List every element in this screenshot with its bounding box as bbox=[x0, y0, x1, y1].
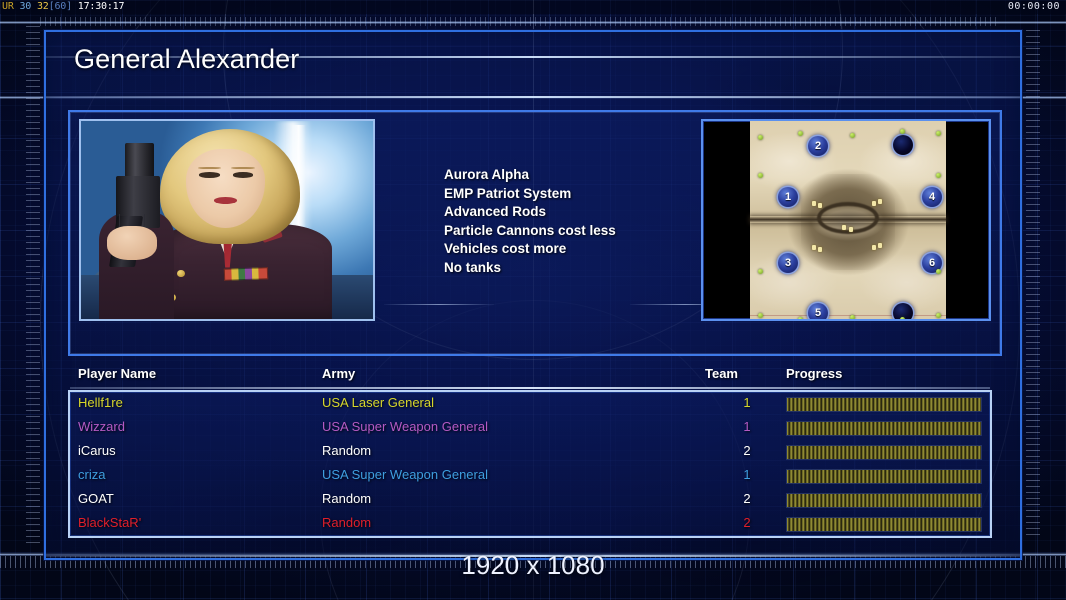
player-army: USA Super Weapon General bbox=[322, 467, 488, 482]
player-army: Random bbox=[322, 491, 371, 506]
table-row[interactable]: Hellf1reUSA Laser General1 bbox=[70, 392, 990, 416]
progress-bar bbox=[786, 421, 982, 436]
player-team: 1 bbox=[737, 419, 757, 434]
title-bar: General Alexander bbox=[46, 32, 1020, 88]
map-supply-marker bbox=[818, 203, 822, 208]
map-resource-dot bbox=[798, 317, 803, 321]
player-name: Hellf1re bbox=[78, 395, 123, 410]
progress-bar-fill bbox=[787, 422, 981, 435]
general-portrait bbox=[79, 119, 375, 321]
progress-bar-fill bbox=[787, 398, 981, 411]
map-supply-marker bbox=[812, 201, 816, 206]
map-resource-dot bbox=[900, 317, 905, 321]
progress-bar bbox=[786, 469, 982, 484]
player-army: Random bbox=[322, 443, 371, 458]
ruler-right bbox=[1026, 30, 1040, 540]
general-info-box: Aurora AlphaEMP Patriot SystemAdvanced R… bbox=[68, 110, 1002, 356]
portrait-eye-left bbox=[199, 172, 219, 177]
map-resource-dot bbox=[798, 131, 803, 136]
table-row[interactable]: GOATRandom2 bbox=[70, 488, 990, 512]
progress-bar bbox=[786, 397, 982, 412]
map-resource-dot bbox=[936, 131, 941, 136]
map-resource-dot bbox=[758, 173, 763, 178]
debug-top-bar: UR 30 32[60] 17:30:17 00:00:00 bbox=[0, 0, 1066, 14]
map-river-island bbox=[817, 202, 880, 234]
progress-bar-fill bbox=[787, 470, 981, 483]
map-preview-frame[interactable]: 214365 bbox=[701, 119, 991, 321]
progress-bar-fill bbox=[787, 494, 981, 507]
map-supply-marker bbox=[878, 243, 882, 248]
map-supply-marker bbox=[872, 201, 876, 206]
progress-bar bbox=[786, 517, 982, 532]
player-name: BlackStaR' bbox=[78, 515, 141, 530]
map-supply-marker bbox=[872, 245, 876, 250]
portrait-medal-ribbons bbox=[224, 267, 268, 280]
player-table-header: Player NameArmyTeamProgress bbox=[70, 366, 990, 388]
map-resource-dot bbox=[900, 129, 905, 134]
map-preview-image: 214365 bbox=[750, 121, 946, 321]
progress-bar bbox=[786, 493, 982, 508]
map-supply-marker bbox=[849, 227, 853, 232]
player-name: GOAT bbox=[78, 491, 114, 506]
table-row[interactable]: iCarusRandom2 bbox=[70, 440, 990, 464]
map-supply-marker bbox=[818, 247, 822, 252]
map-start-position[interactable]: 3 bbox=[778, 253, 798, 273]
header-underline bbox=[70, 387, 990, 389]
map-resource-dot bbox=[936, 173, 941, 178]
player-team: 2 bbox=[737, 515, 757, 530]
map-supply-marker bbox=[842, 225, 846, 230]
column-header-army[interactable]: Army bbox=[322, 366, 355, 381]
player-name: iCarus bbox=[78, 443, 116, 458]
map-resource-dot bbox=[758, 135, 763, 140]
page-title: General Alexander bbox=[74, 44, 299, 75]
map-resource-dot bbox=[758, 313, 763, 318]
progress-bar-fill bbox=[787, 446, 981, 459]
table-row[interactable]: BlackStaR'Random2 bbox=[70, 512, 990, 536]
ruler-left bbox=[26, 26, 40, 546]
portrait-lips bbox=[214, 197, 237, 204]
fps-counter: UR 30 32[60] 17:30:17 bbox=[2, 1, 124, 13]
info-divider-left bbox=[384, 304, 494, 305]
panel-highlight-title bbox=[46, 96, 1020, 98]
map-resource-dot bbox=[758, 269, 763, 274]
map-start-position[interactable] bbox=[893, 135, 913, 155]
player-name: Wizzard bbox=[78, 419, 125, 434]
portrait-eye-right bbox=[233, 172, 253, 177]
table-row[interactable]: crizaUSA Super Weapon General1 bbox=[70, 464, 990, 488]
map-start-position[interactable]: 1 bbox=[778, 187, 798, 207]
map-supply-marker bbox=[878, 199, 882, 204]
player-team: 2 bbox=[737, 491, 757, 506]
portrait-hand bbox=[107, 226, 157, 260]
map-resource-dot bbox=[850, 133, 855, 138]
player-army: USA Super Weapon General bbox=[322, 419, 488, 434]
player-table: Hellf1reUSA Laser General1WizzardUSA Sup… bbox=[68, 390, 992, 538]
player-name: criza bbox=[78, 467, 105, 482]
session-clock: 00:00:00 bbox=[1008, 1, 1060, 13]
loading-screen: UR 30 32[60] 17:30:17 00:00:00 General A… bbox=[0, 0, 1066, 600]
table-row[interactable]: WizzardUSA Super Weapon General1 bbox=[70, 416, 990, 440]
player-team: 2 bbox=[737, 443, 757, 458]
player-team: 1 bbox=[737, 395, 757, 410]
progress-bar-fill bbox=[787, 518, 981, 531]
main-panel: General Alexander bbox=[44, 30, 1022, 560]
map-scanline-2 bbox=[750, 320, 946, 321]
map-resource-dot bbox=[936, 313, 941, 318]
column-header-name[interactable]: Player Name bbox=[78, 366, 156, 381]
map-resource-dot bbox=[936, 269, 941, 274]
map-start-position[interactable]: 2 bbox=[808, 136, 828, 156]
map-start-position[interactable]: 4 bbox=[922, 187, 942, 207]
map-supply-marker bbox=[812, 245, 816, 250]
column-header-progress[interactable]: Progress bbox=[786, 366, 842, 381]
map-scanline-1 bbox=[750, 315, 946, 316]
player-army: USA Laser General bbox=[322, 395, 434, 410]
progress-bar bbox=[786, 445, 982, 460]
resolution-label: 1920 x 1080 bbox=[0, 550, 1066, 581]
map-start-position[interactable]: 5 bbox=[808, 303, 828, 321]
player-army: Random bbox=[322, 515, 371, 530]
map-resource-dot bbox=[850, 315, 855, 320]
column-header-team[interactable]: Team bbox=[705, 366, 738, 381]
player-team: 1 bbox=[737, 467, 757, 482]
ruler-top bbox=[40, 17, 1000, 26]
